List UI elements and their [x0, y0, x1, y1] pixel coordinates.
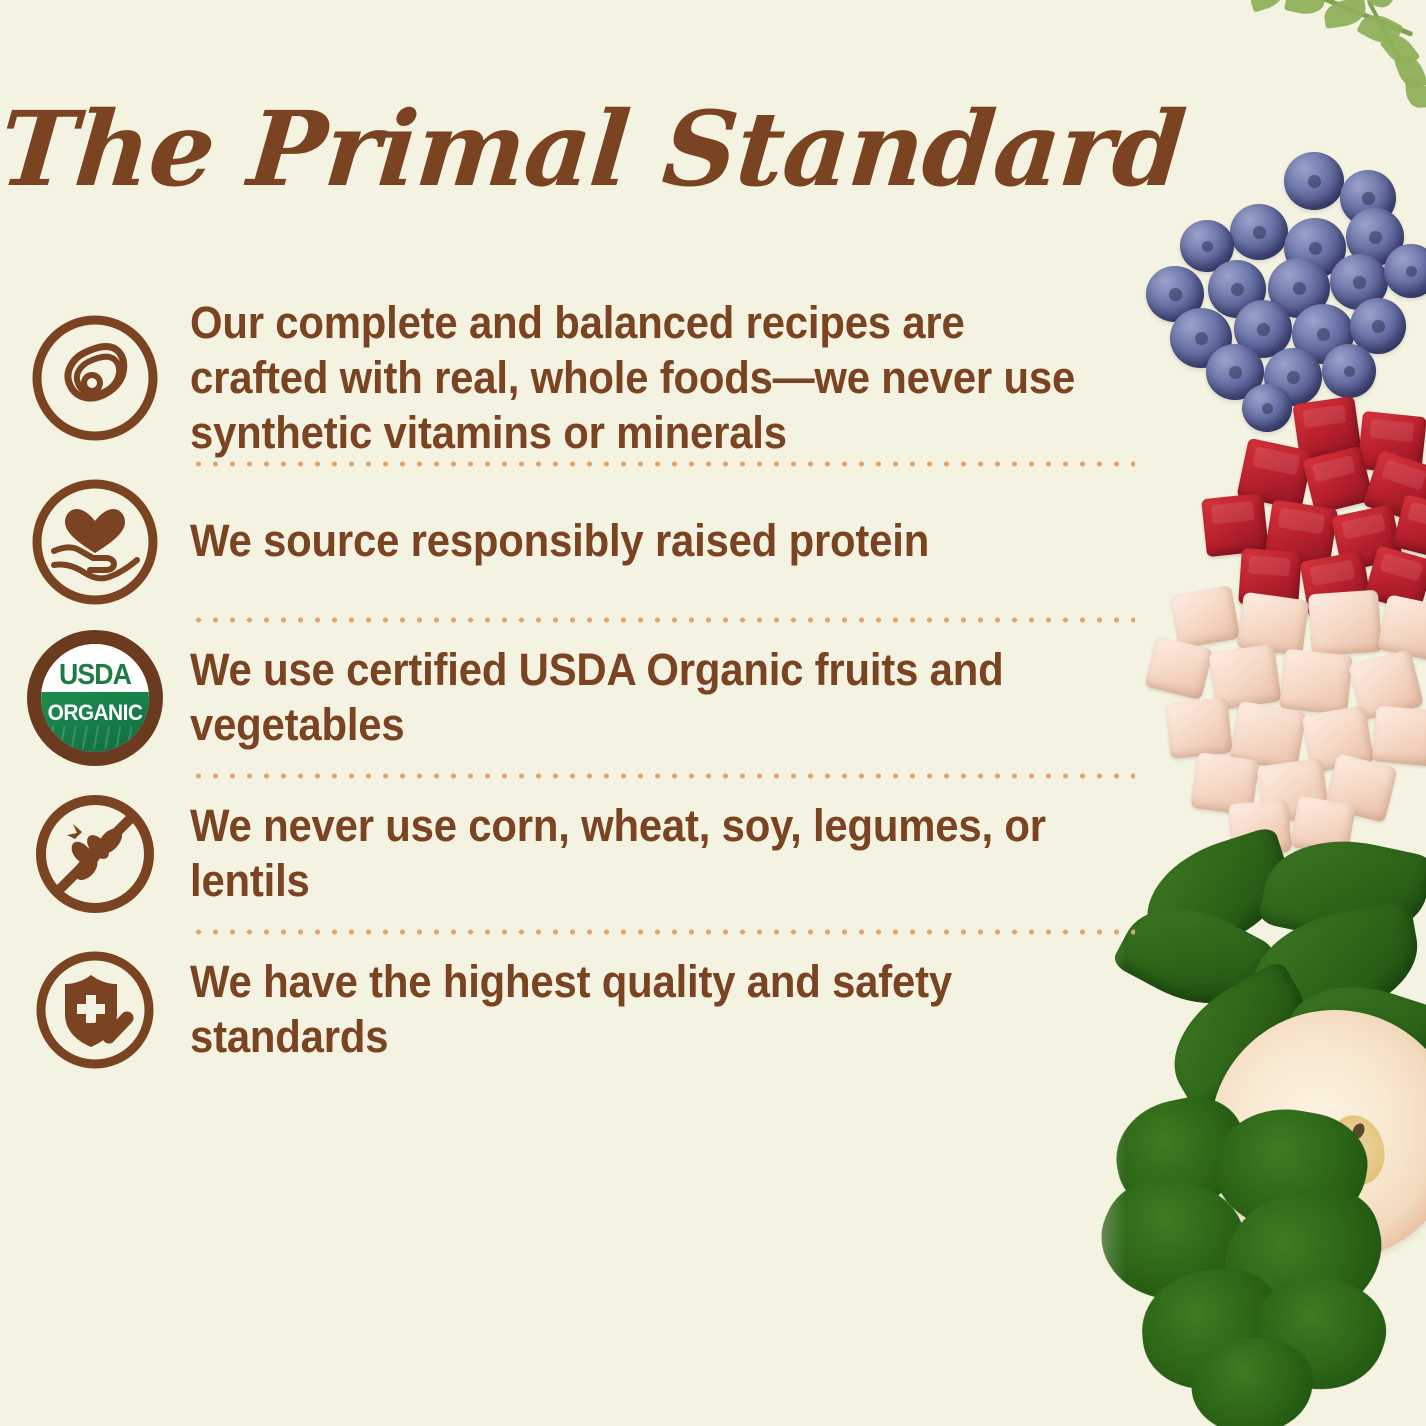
shield-check-icon — [28, 943, 162, 1077]
page-title: The Primal Standard — [0, 96, 1185, 204]
usda-organic-seal-icon: USDA ORGANIC — [28, 631, 162, 765]
apple-seed — [1350, 1121, 1367, 1140]
apple-half — [1210, 1010, 1426, 1260]
apple-core — [1322, 1110, 1391, 1191]
promo-canvas: The Primal Standard Our complete and bal… — [0, 0, 1426, 1426]
icon-cell — [0, 475, 190, 609]
icon-cell: USDA ORGANIC — [0, 631, 190, 765]
no-grain-icon — [28, 787, 162, 921]
list-item: We have the highest quality and safety s… — [0, 935, 1180, 1085]
apple-seed — [1332, 1146, 1349, 1165]
usda-seal-inner: USDA ORGANIC — [41, 644, 149, 752]
list-item: Our complete and balanced recipes are cr… — [0, 296, 1180, 461]
feature-text: We have the highest quality and safety s… — [190, 955, 1088, 1065]
feature-list: Our complete and balanced recipes are cr… — [0, 296, 1180, 1085]
text-cell: We use certified USDA Organic fruits and… — [190, 643, 1180, 753]
feature-text: We never use corn, wheat, soy, legumes, … — [190, 799, 1088, 909]
parsley-sprig — [1242, 0, 1426, 106]
feature-text: We source responsibly raised protein — [190, 514, 1088, 569]
beef-cubes — [1146, 400, 1426, 620]
text-cell: We source responsibly raised protein — [190, 514, 1180, 569]
icon-cell — [0, 311, 190, 445]
steak-icon — [28, 311, 162, 445]
usda-seal-top-label: USDA — [45, 659, 144, 692]
usda-seal-bottom-label: ORGANIC — [44, 700, 147, 726]
list-item: USDA ORGANIC We use certified USDA Organ… — [0, 623, 1180, 773]
text-cell: Our complete and balanced recipes are cr… — [190, 296, 1180, 461]
icon-cell — [0, 787, 190, 921]
list-item: We source responsibly raised protein — [0, 467, 1180, 617]
feature-text: Our complete and balanced recipes are cr… — [190, 296, 1088, 461]
heart-in-hand-icon — [28, 475, 162, 609]
icon-cell — [0, 943, 190, 1077]
list-item: We never use corn, wheat, soy, legumes, … — [0, 779, 1180, 929]
text-cell: We never use corn, wheat, soy, legumes, … — [190, 799, 1180, 909]
feature-text: We use certified USDA Organic fruits and… — [190, 643, 1088, 753]
kale-leaves — [1096, 1100, 1416, 1420]
text-cell: We have the highest quality and safety s… — [190, 955, 1180, 1065]
